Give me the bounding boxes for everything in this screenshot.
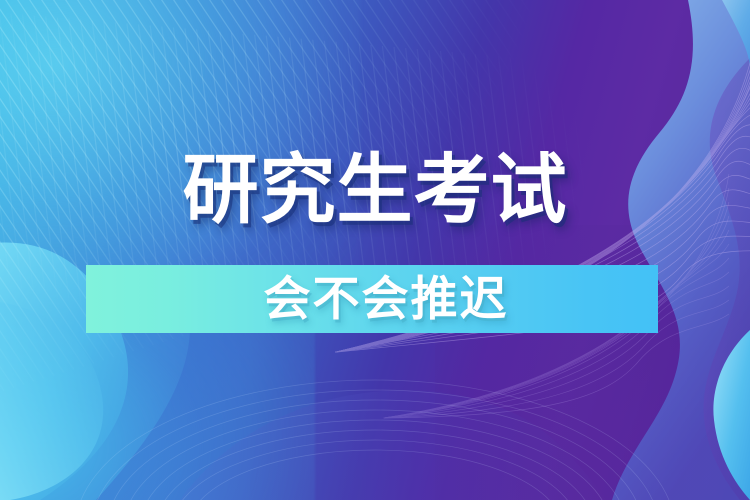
promo-banner: 研究生考试 会不会推迟 bbox=[0, 0, 750, 500]
page-title: 研究生考试 bbox=[0, 152, 750, 228]
subtitle-text: 会不会推迟 bbox=[86, 265, 658, 333]
